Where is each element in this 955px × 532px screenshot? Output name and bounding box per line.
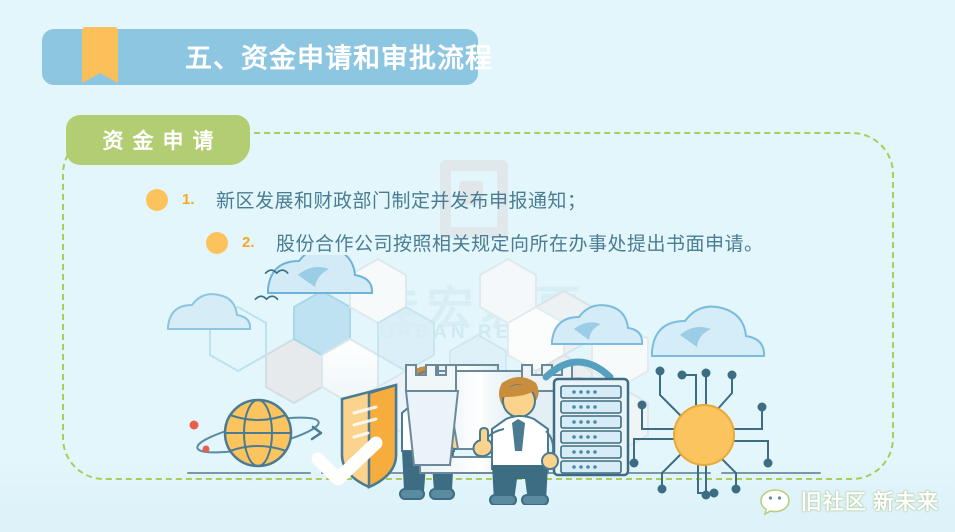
globe-icon — [190, 400, 322, 466]
bullet-dot-icon — [146, 189, 168, 211]
bookmark-ribbon-icon — [78, 27, 122, 85]
page-title: 五、资金申请和审批流程 — [185, 37, 493, 76]
list-item-text: 股份合作公司按照相关规定向所在办事处提出书面申请。 — [276, 229, 764, 256]
wechat-icon — [759, 486, 797, 516]
list-item: 1. 新区发展和财政部门制定并发布申报通知； — [0, 186, 955, 213]
section-tag-label: 资金申请 — [94, 125, 223, 155]
section-tag: 资金申请 — [66, 115, 250, 165]
list-item-number: 1. — [182, 191, 208, 208]
wechat-brand-label: 旧社区 新未来 — [801, 486, 939, 516]
list-item-text: 新区发展和财政部门制定并发布申报通知； — [216, 186, 587, 213]
wechat-brand: 旧社区 新未来 — [759, 486, 939, 516]
header-banner: 五、资金申请和审批流程 — [42, 29, 478, 85]
shield-check-icon — [318, 385, 396, 487]
circuit-node-icon — [631, 368, 772, 499]
bullet-dot-icon — [206, 232, 228, 254]
server-rack-icon — [554, 379, 628, 475]
list-item-number: 2. — [242, 234, 268, 251]
list-item: 2. 股份合作公司按照相关规定向所在办事处提出书面申请。 — [0, 229, 955, 256]
illustration — [150, 255, 840, 505]
